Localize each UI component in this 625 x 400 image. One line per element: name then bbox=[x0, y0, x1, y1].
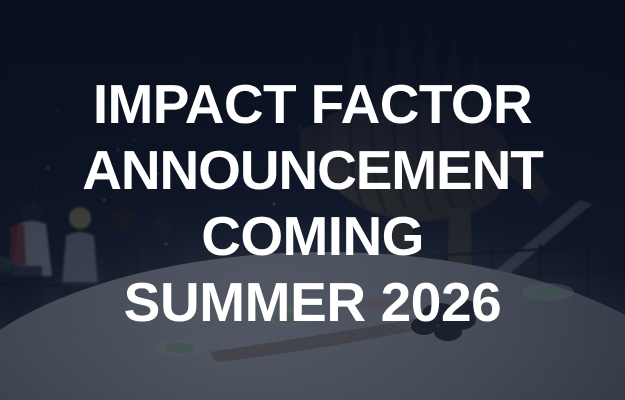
headline-line-1: IMPACT FACTOR bbox=[93, 71, 532, 137]
headline-block: IMPACT FACTOR ANNOUNCEMENT COMING SUMMER… bbox=[0, 0, 625, 400]
headline-line-2: ANNOUNCEMENT bbox=[82, 137, 542, 203]
impact-factor-announcement-banner: Vela IMPACT FACTOR ANNOUNCEMENT COMING S… bbox=[0, 0, 625, 400]
headline-line-4: SUMMER 2026 bbox=[124, 269, 502, 335]
headline-line-3: COMING bbox=[201, 203, 424, 269]
